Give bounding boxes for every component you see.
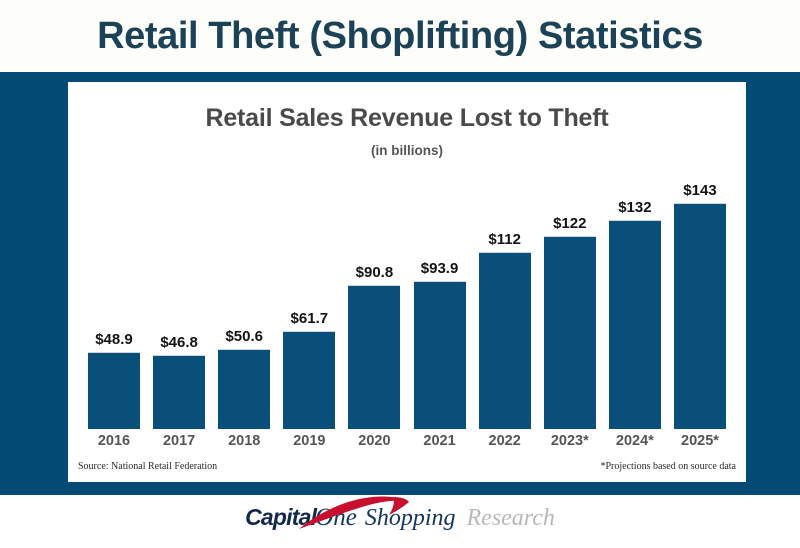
bar-slot: $50.6 xyxy=(218,177,270,429)
bar-slot: $48.9 xyxy=(88,177,140,429)
bar-slot: $90.8 xyxy=(348,177,400,429)
page-title: Retail Theft (Shoplifting) Statistics xyxy=(97,17,703,55)
poster-title-band: Retail Theft (Shoplifting) Statistics xyxy=(0,0,800,72)
plot-area: $48.9$46.8$50.6$61.7$90.8$93.9$112$122$1… xyxy=(88,177,726,429)
bar-value-label: $46.8 xyxy=(160,335,198,350)
x-axis-tick-label: 2025* xyxy=(674,434,726,449)
logo-capital-text: Capital xyxy=(245,506,316,529)
bar-value-label: $48.9 xyxy=(95,332,133,347)
x-axis-tick-label: 2016 xyxy=(88,434,140,449)
x-axis-tick-label: 2023* xyxy=(544,434,596,449)
bar-slot: $61.7 xyxy=(283,177,335,429)
bar-slot: $112 xyxy=(479,177,531,429)
bar-series: $48.9$46.8$50.6$61.7$90.8$93.9$112$122$1… xyxy=(88,177,726,429)
bar-slot: $122 xyxy=(544,177,596,429)
bar-value-label: $50.6 xyxy=(225,329,263,344)
bar-slot: $143 xyxy=(674,177,726,429)
capital-one-shopping-research-logo[interactable]: Capital One Shopping Research xyxy=(245,505,555,539)
x-axis-tick-label: 2024* xyxy=(609,434,661,449)
chart-panel: Retail Sales Revenue Lost to Theft (in b… xyxy=(68,82,746,482)
bar-value-label: $61.7 xyxy=(291,311,329,326)
bar-rect[interactable] xyxy=(414,281,466,429)
poster-root: Retail Theft (Shoplifting) Statistics Re… xyxy=(0,0,800,548)
chart-title: Retail Sales Revenue Lost to Theft xyxy=(68,106,746,131)
x-axis-tick-label: 2022 xyxy=(479,434,531,449)
bar-slot: $46.8 xyxy=(153,177,205,429)
bar-rect[interactable] xyxy=(544,236,596,429)
x-axis-tick-label: 2021 xyxy=(414,434,466,449)
footer-bar: Capital One Shopping Research xyxy=(0,495,800,548)
chart-subtitle: (in billions) xyxy=(68,144,746,158)
bar-rect[interactable] xyxy=(348,285,400,429)
bar-value-label: $93.9 xyxy=(421,261,459,276)
bar-value-label: $132 xyxy=(618,200,651,215)
x-axis-tick-label: 2019 xyxy=(283,434,335,449)
bar-slot: $93.9 xyxy=(414,177,466,429)
source-note: Source: National Retail Federation xyxy=(78,462,217,472)
x-axis-tick-label: 2020 xyxy=(348,434,400,449)
logo-one-text: One xyxy=(315,505,357,530)
bar-rect[interactable] xyxy=(153,355,205,429)
bar-rect[interactable] xyxy=(283,331,335,429)
bar-rect[interactable] xyxy=(218,349,270,429)
bar-value-label: $112 xyxy=(488,232,521,247)
x-axis-tick-label: 2017 xyxy=(153,434,205,449)
bar-rect[interactable] xyxy=(674,203,726,429)
bar-value-label: $122 xyxy=(553,216,586,231)
bar-slot: $132 xyxy=(609,177,661,429)
bar-rect[interactable] xyxy=(479,252,531,429)
projection-note: *Projections based on source data xyxy=(600,462,736,472)
bar-value-label: $90.8 xyxy=(356,265,394,280)
logo-research-text: Research xyxy=(467,506,555,530)
x-axis-tick-label: 2018 xyxy=(218,434,270,449)
bar-rect[interactable] xyxy=(609,220,661,429)
bar-rect[interactable] xyxy=(88,352,140,429)
x-axis-labels: 20162017201820192020202120222023*2024*20… xyxy=(88,434,726,449)
bar-value-label: $143 xyxy=(683,183,716,198)
logo-shopping-text: Shopping xyxy=(365,506,456,530)
